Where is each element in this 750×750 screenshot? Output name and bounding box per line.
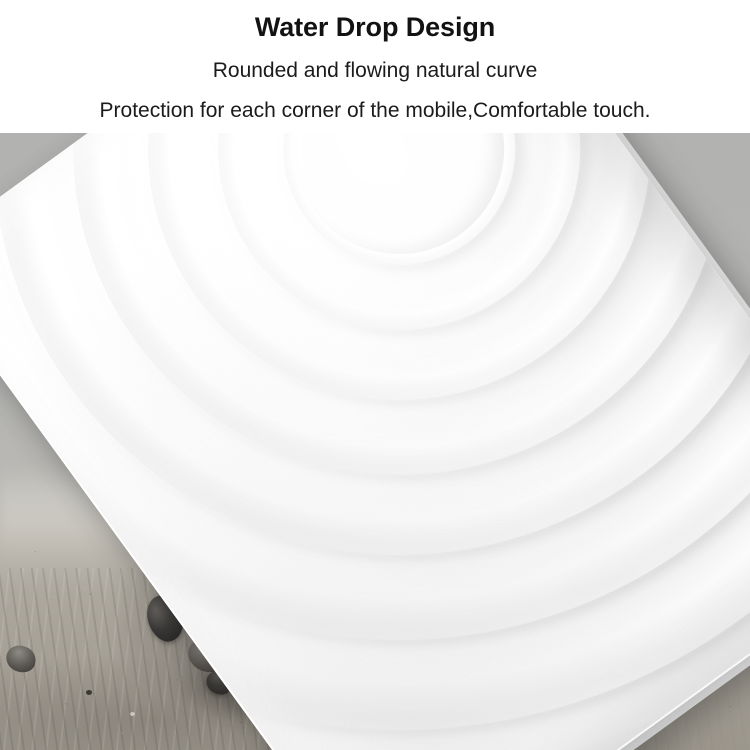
- page-title: Water Drop Design: [0, 11, 750, 43]
- product-photo: [0, 133, 750, 750]
- header-text-block: Water Drop Design Rounded and flowing na…: [0, 0, 750, 133]
- product-promo-page: Water Drop Design Rounded and flowing na…: [0, 0, 750, 750]
- debris-chip-12: [86, 690, 92, 695]
- debris-chip-13: [130, 712, 135, 716]
- page-tagline: Protection for each corner of the mobile…: [0, 98, 750, 124]
- page-subtitle: Rounded and flowing natural curve: [0, 58, 750, 84]
